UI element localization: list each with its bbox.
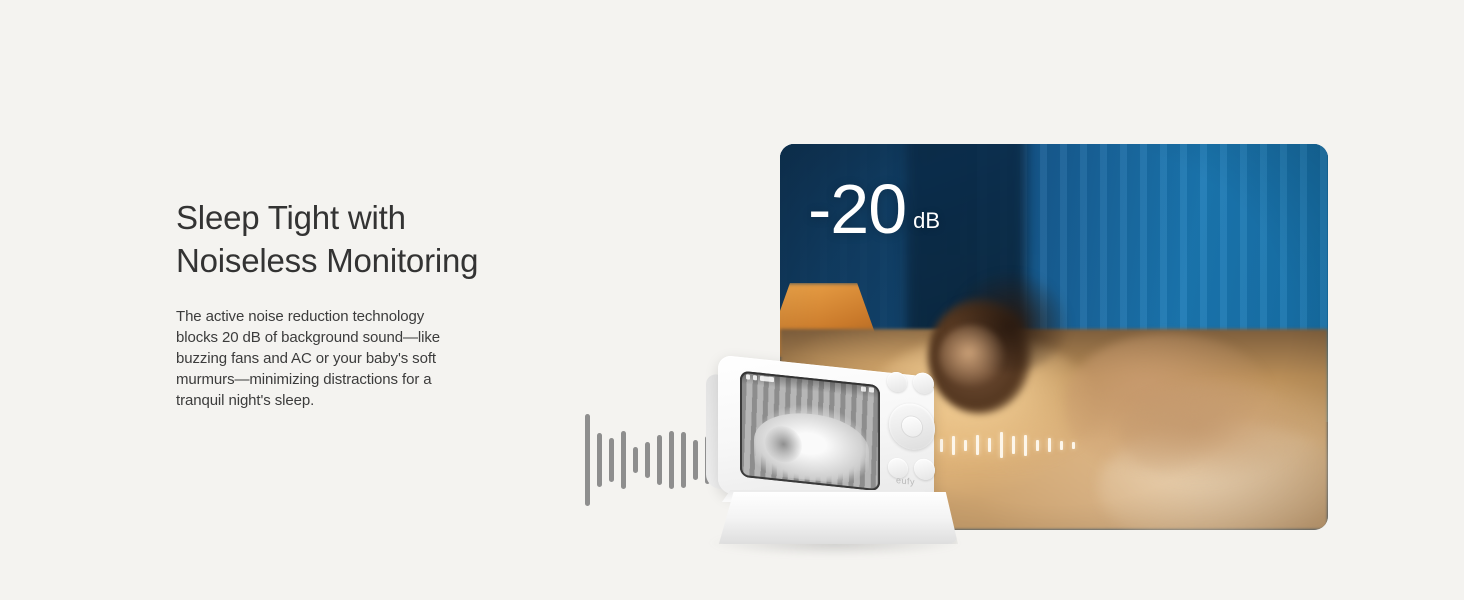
white-wave-bar-6 (1000, 432, 1003, 458)
menu-button[interactable] (887, 371, 907, 393)
temperature-icon (753, 375, 757, 380)
white-wave-bar-4 (976, 435, 979, 455)
dpad-control[interactable] (889, 401, 935, 452)
charging-dock (714, 492, 958, 544)
white-wave-bar-8 (1024, 435, 1027, 456)
decibel-unit: dB (913, 210, 940, 232)
white-wave-bar-10 (1048, 438, 1051, 452)
power-button[interactable] (913, 372, 934, 395)
control-panel (885, 369, 947, 492)
gray-wave-bar-2 (609, 438, 614, 482)
baby-monitor-device: eufy (700, 360, 970, 560)
decibel-overlay: -20 dB (808, 176, 940, 242)
signal-icon (746, 374, 750, 379)
brand-logo: eufy (896, 475, 915, 487)
gray-wave-bar-0 (585, 414, 590, 506)
gray-wave-bar-5 (645, 442, 650, 478)
page-title: Sleep Tight with Noiseless Monitoring (176, 196, 536, 282)
white-wave-bar-9 (1036, 440, 1039, 451)
gray-wave-bar-1 (597, 433, 602, 487)
copy-block: Sleep Tight with Noiseless Monitoring Th… (176, 196, 536, 411)
gray-wave-bar-6 (657, 435, 662, 485)
gray-wave-bar-4 (633, 447, 638, 473)
white-wave-bar-12 (1072, 442, 1075, 449)
volume-icon (869, 387, 874, 393)
promo-banner: Sleep Tight with Noiseless Monitoring Th… (0, 0, 1464, 600)
gray-wave-bar-3 (621, 431, 626, 489)
gray-wave-bar-9 (693, 440, 698, 480)
white-wave-bar-11 (1060, 441, 1063, 450)
body-paragraph: The active noise reduction technology bl… (176, 306, 536, 411)
night-mode-icon (861, 386, 866, 392)
decibel-value: -20 (808, 176, 906, 242)
gray-wave-bar-7 (669, 431, 674, 489)
gray-wave-bar-8 (681, 432, 686, 488)
white-wave-bar-7 (1012, 436, 1015, 454)
monitor-screen (740, 371, 880, 492)
white-wave-bar-5 (988, 438, 991, 452)
settings-button[interactable] (914, 458, 935, 481)
